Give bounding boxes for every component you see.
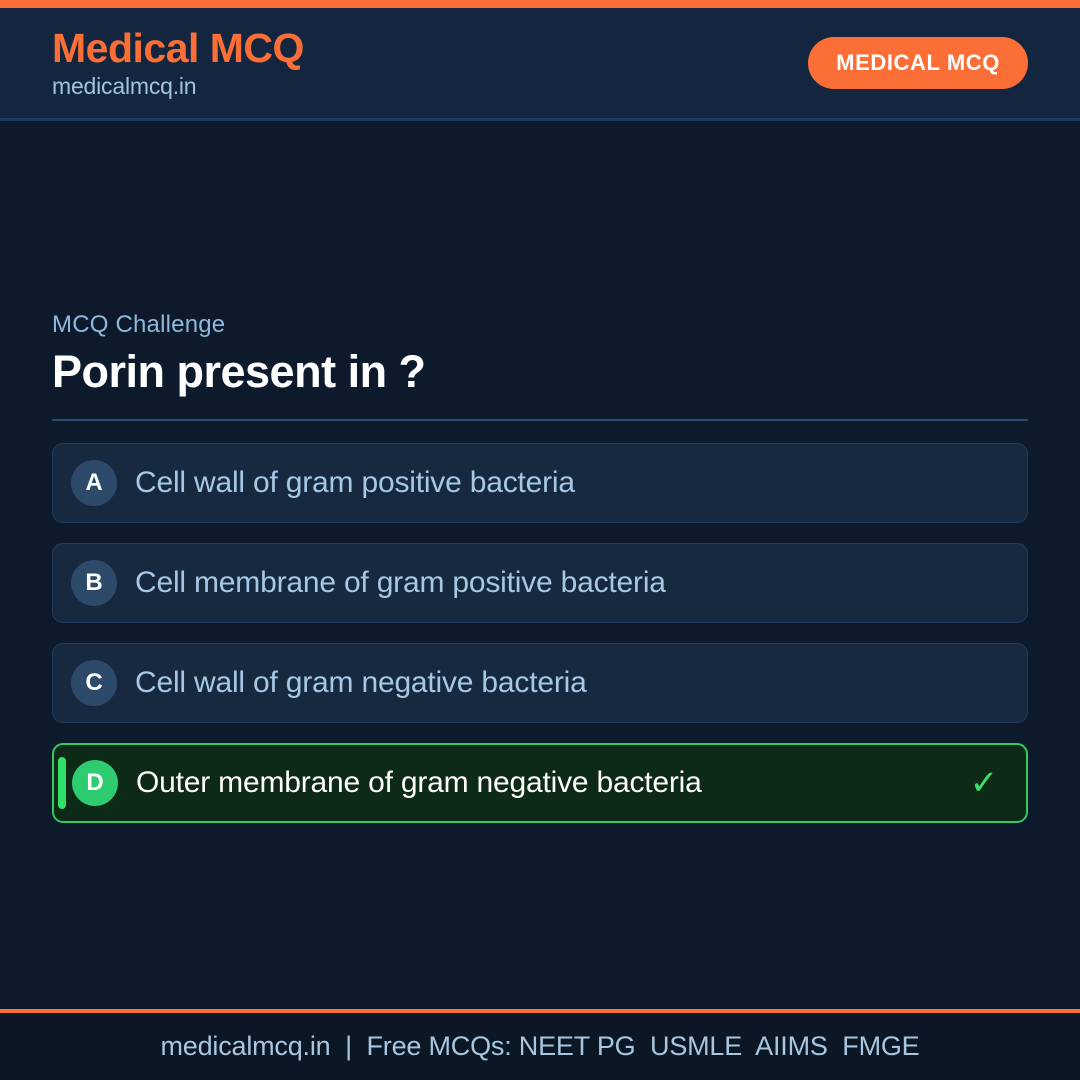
option-letter-badge: C bbox=[71, 660, 117, 706]
brand-subtitle: medicalmcq.in bbox=[52, 75, 304, 98]
main-content: MCQ Challenge Porin present in ? A Cell … bbox=[0, 121, 1080, 1009]
option-letter-badge: D bbox=[72, 760, 118, 806]
correct-accent-bar bbox=[58, 757, 66, 809]
option-label: Cell membrane of gram positive bacteria bbox=[135, 566, 965, 600]
question-title: Porin present in ? bbox=[52, 347, 1028, 397]
options-list: A Cell wall of gram positive bacteria B … bbox=[52, 443, 1028, 823]
header: Medical MCQ medicalmcq.in MEDICAL MCQ bbox=[0, 8, 1080, 121]
top-accent-bar bbox=[0, 0, 1080, 8]
option-label: Cell wall of gram negative bacteria bbox=[135, 666, 965, 700]
question-block: MCQ Challenge Porin present in ? bbox=[52, 311, 1028, 443]
check-icon: ✓ bbox=[964, 766, 1004, 800]
mcq-card: Medical MCQ medicalmcq.in MEDICAL MCQ MC… bbox=[0, 0, 1080, 1080]
option-label: Outer membrane of gram negative bacteria bbox=[136, 766, 964, 800]
header-badge: MEDICAL MCQ bbox=[808, 37, 1028, 89]
option-a[interactable]: A Cell wall of gram positive bacteria bbox=[52, 443, 1028, 523]
brand: Medical MCQ medicalmcq.in bbox=[52, 28, 304, 98]
option-d-correct[interactable]: D Outer membrane of gram negative bacter… bbox=[52, 743, 1028, 823]
option-b[interactable]: B Cell membrane of gram positive bacteri… bbox=[52, 543, 1028, 623]
brand-title: Medical MCQ bbox=[52, 28, 304, 69]
footer-text: medicalmcq.in | Free MCQs: NEET PG USMLE… bbox=[161, 1031, 920, 1062]
option-letter-badge: A bbox=[71, 460, 117, 506]
option-label: Cell wall of gram positive bacteria bbox=[135, 466, 965, 500]
question-divider bbox=[52, 419, 1028, 421]
option-letter-badge: B bbox=[71, 560, 117, 606]
footer: medicalmcq.in | Free MCQs: NEET PG USMLE… bbox=[0, 1013, 1080, 1080]
question-eyebrow: MCQ Challenge bbox=[52, 311, 1028, 339]
option-c[interactable]: C Cell wall of gram negative bacteria bbox=[52, 643, 1028, 723]
